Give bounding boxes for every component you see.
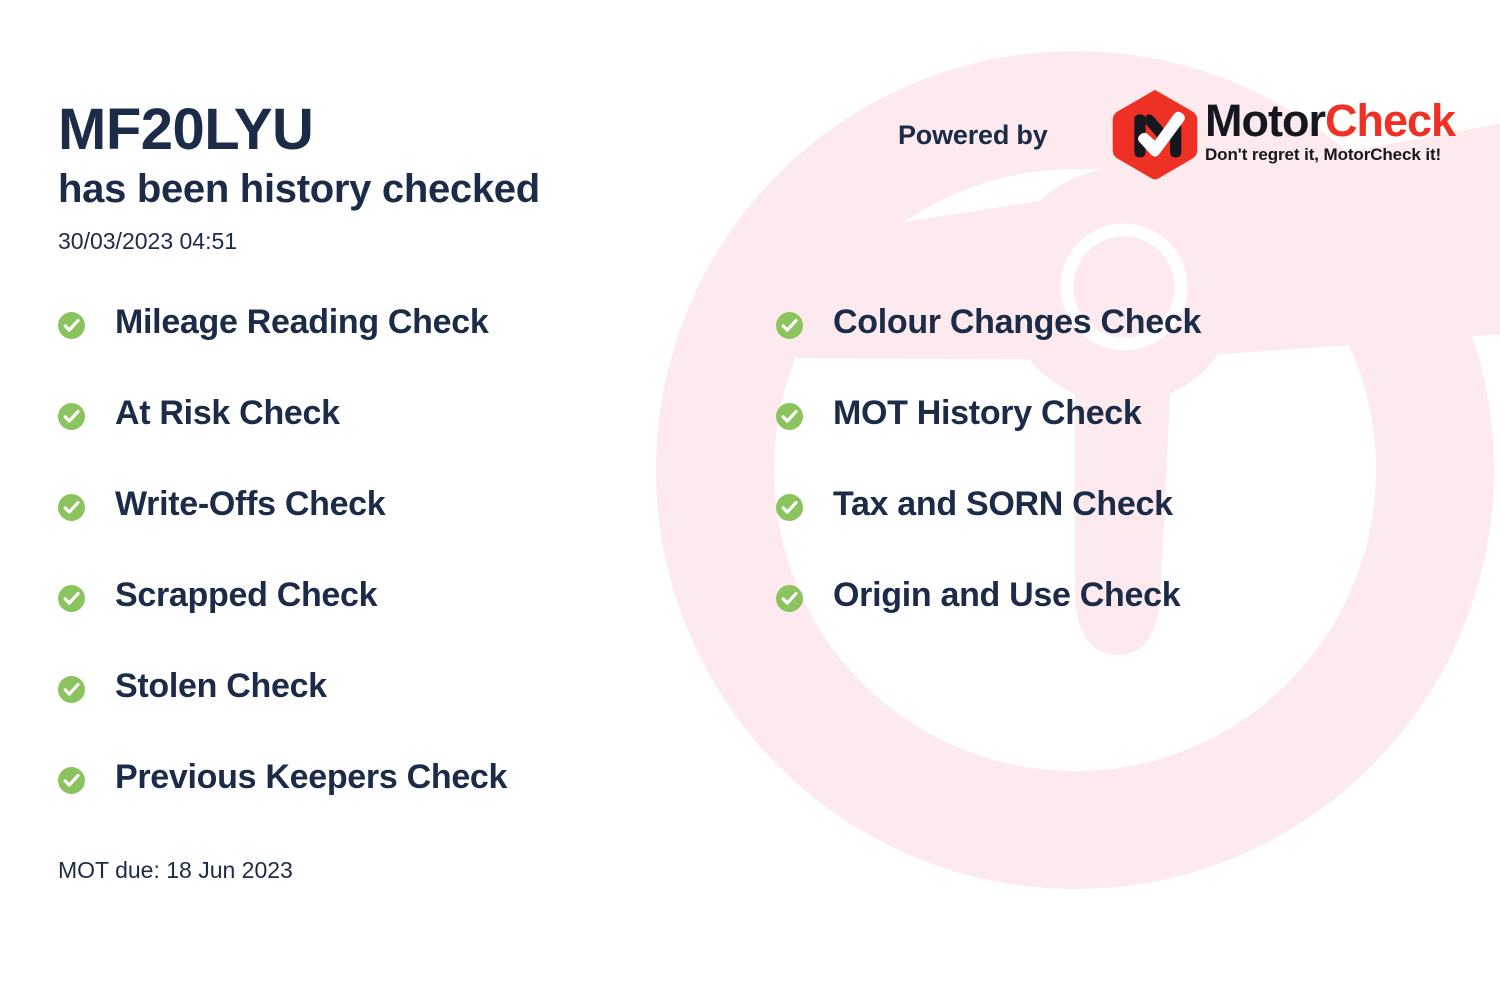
list-item: MOT History Check bbox=[776, 393, 1201, 484]
green-check-circle-icon bbox=[58, 676, 85, 703]
vehicle-registration: MF20LYU bbox=[58, 100, 313, 159]
list-item: Origin and Use Check bbox=[776, 575, 1201, 666]
history-check-summary-card: MF20LYU has been history checked 30/03/2… bbox=[0, 0, 1500, 1000]
page-title: has been history checked bbox=[58, 168, 540, 211]
green-check-circle-icon bbox=[58, 494, 85, 521]
check-label: Mileage Reading Check bbox=[115, 302, 488, 342]
green-check-circle-icon bbox=[776, 403, 803, 430]
logo-word-check: Check bbox=[1325, 95, 1455, 146]
motorcheck-hexagon-icon bbox=[1108, 88, 1202, 182]
list-item: At Risk Check bbox=[58, 393, 507, 484]
check-label: Scrapped Check bbox=[115, 575, 377, 615]
green-check-circle-icon bbox=[58, 403, 85, 430]
green-check-circle-icon bbox=[58, 312, 85, 339]
checklist-left-column: Mileage Reading Check At Risk Check Writ… bbox=[58, 302, 507, 848]
mot-due-date: MOT due: 18 Jun 2023 bbox=[58, 857, 293, 884]
check-timestamp: 30/03/2023 04:51 bbox=[58, 228, 237, 255]
green-check-circle-icon bbox=[776, 494, 803, 521]
list-item: Mileage Reading Check bbox=[58, 302, 507, 393]
checklist-right-column: Colour Changes Check MOT History Check T… bbox=[776, 302, 1201, 666]
green-check-circle-icon bbox=[58, 585, 85, 612]
list-item: Colour Changes Check bbox=[776, 302, 1201, 393]
check-label: Origin and Use Check bbox=[833, 575, 1180, 615]
check-label: At Risk Check bbox=[115, 393, 340, 433]
list-item: Scrapped Check bbox=[58, 575, 507, 666]
logo-word-motor: Motor bbox=[1205, 95, 1325, 146]
logo-tagline: Don't regret it, MotorCheck it! bbox=[1205, 146, 1455, 163]
green-check-circle-icon bbox=[58, 767, 85, 794]
green-check-circle-icon bbox=[776, 312, 803, 339]
green-check-circle-icon bbox=[776, 585, 803, 612]
check-label: MOT History Check bbox=[833, 393, 1142, 433]
check-label: Tax and SORN Check bbox=[833, 484, 1173, 524]
list-item: Write-Offs Check bbox=[58, 484, 507, 575]
check-label: Write-Offs Check bbox=[115, 484, 385, 524]
list-item: Stolen Check bbox=[58, 666, 507, 757]
check-label: Colour Changes Check bbox=[833, 302, 1201, 342]
list-item: Tax and SORN Check bbox=[776, 484, 1201, 575]
motorcheck-wordmark: MotorCheck Don't regret it, MotorCheck i… bbox=[1205, 98, 1455, 163]
check-label: Previous Keepers Check bbox=[115, 757, 507, 797]
check-label: Stolen Check bbox=[115, 666, 327, 706]
list-item: Previous Keepers Check bbox=[58, 757, 507, 848]
powered-by-label: Powered by bbox=[898, 120, 1048, 151]
